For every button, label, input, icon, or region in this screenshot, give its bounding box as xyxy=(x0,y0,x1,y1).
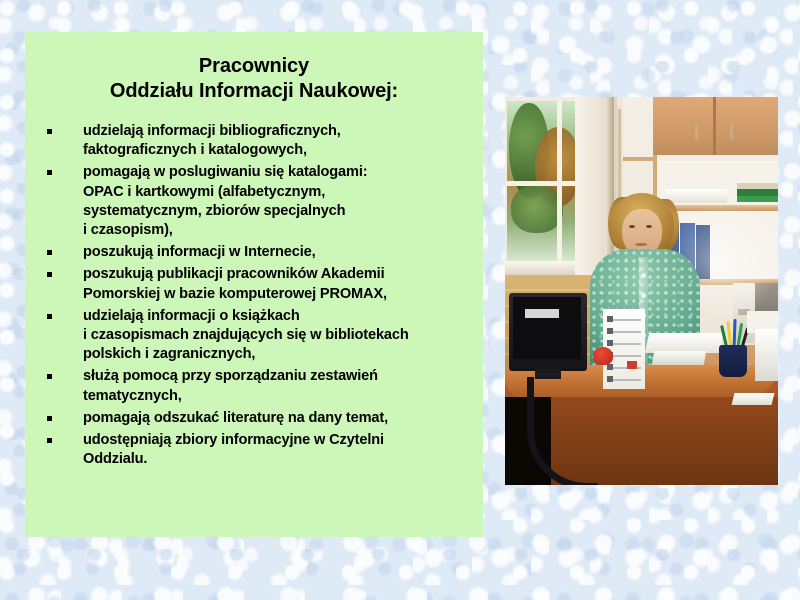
square-bullet-icon xyxy=(47,170,52,175)
square-bullet-icon xyxy=(47,374,52,379)
list-item-line: i czasopismach znajdujących się w biblio… xyxy=(83,326,473,345)
square-bullet-icon xyxy=(47,250,52,255)
photo-calendar-marker xyxy=(627,361,637,369)
list-item: pomagają odszukać literaturę na dany tem… xyxy=(36,409,473,428)
list-item-line: tematycznych, xyxy=(83,387,473,406)
photo-papers xyxy=(645,333,723,353)
photo-cabinet-handle xyxy=(695,123,698,140)
photo-papers xyxy=(652,351,706,365)
list-item-line: Oddzialu. xyxy=(83,450,473,469)
list-item-line: służą pomocą przy sporządzaniu zestawień xyxy=(83,367,473,386)
list-item-line: faktograficznych i katalogowych, xyxy=(83,141,473,160)
photo-cabinet-divider xyxy=(713,97,716,155)
slide: Pracownicy Oddziału Informacji Naukowej:… xyxy=(0,0,800,600)
square-bullet-icon xyxy=(47,416,52,421)
photo-woman-eye xyxy=(646,225,652,228)
list-item: poszukują publikacji pracowników Akademi… xyxy=(36,265,473,303)
photo-monitor-screen xyxy=(513,297,581,359)
photo-woman-eye xyxy=(629,225,635,228)
photo-red-object xyxy=(593,347,613,365)
page-title-line-2: Oddziału Informacji Naukowej: xyxy=(37,79,471,104)
square-bullet-icon xyxy=(47,438,52,443)
list-item: udzielają informacji o książkach i czaso… xyxy=(36,307,473,365)
photo-cabinet-handle xyxy=(730,123,733,140)
photo-woman-mouth xyxy=(635,243,647,246)
photo-papers xyxy=(665,189,727,203)
photo-window-mullion xyxy=(507,181,579,186)
content-panel: Pracownicy Oddziału Informacji Naukowej:… xyxy=(25,32,483,537)
photo-pen-holder xyxy=(719,345,747,377)
photo-monitor-label xyxy=(525,309,559,318)
square-bullet-icon xyxy=(47,314,52,319)
list-item-line: OPAC i kartkowymi (alfabetycznym, xyxy=(83,183,473,202)
list-item: pomagają w poslugiwaniu się katalogami: … xyxy=(36,163,473,240)
list-item: udostępniają zbiory informacyjne w Czyte… xyxy=(36,431,473,469)
photo-books xyxy=(737,189,778,196)
photo-white-box xyxy=(755,329,778,381)
photo-shelf-board xyxy=(623,157,653,161)
photo-papers xyxy=(732,393,775,405)
photo-books xyxy=(737,196,778,202)
list-item-line: Pomorskiej w bazie komputerowej PROMAX, xyxy=(83,285,473,304)
bullet-list: udzielają informacji bibliograficznych, … xyxy=(25,104,483,469)
list-item-line: udostępniają zbiory informacyjne w Czyte… xyxy=(83,431,473,450)
list-item-line: udzielają informacji bibliograficznych, xyxy=(83,122,473,141)
square-bullet-icon xyxy=(47,129,52,134)
list-item-line: pomagają odszukać literaturę na dany tem… xyxy=(83,409,473,428)
list-item: poszukują informacji w Internecie, xyxy=(36,243,473,262)
list-item-line: systematycznym, zbiorów specjalnych xyxy=(83,202,473,221)
list-item-line: udzielają informacji o książkach xyxy=(83,307,473,326)
list-item: służą pomocą przy sporządzaniu zestawień… xyxy=(36,367,473,405)
page-title-line-1: Pracownicy xyxy=(37,54,471,79)
list-item-line: poszukują publikacji pracowników Akademi… xyxy=(83,265,473,284)
list-item-line: i czasopism), xyxy=(83,221,473,240)
photo-office-librarian xyxy=(505,97,778,485)
list-item-line: polskich i zagranicznych, xyxy=(83,345,473,364)
list-item-line: pomagają w poslugiwaniu się katalogami: xyxy=(83,163,473,182)
photo-tree xyxy=(511,185,563,233)
list-item-line: poszukują informacji w Internecie, xyxy=(83,243,473,262)
square-bullet-icon xyxy=(47,272,52,277)
page-title: Pracownicy Oddziału Informacji Naukowej: xyxy=(25,32,483,104)
list-item: udzielają informacji bibliograficznych, … xyxy=(36,122,473,160)
